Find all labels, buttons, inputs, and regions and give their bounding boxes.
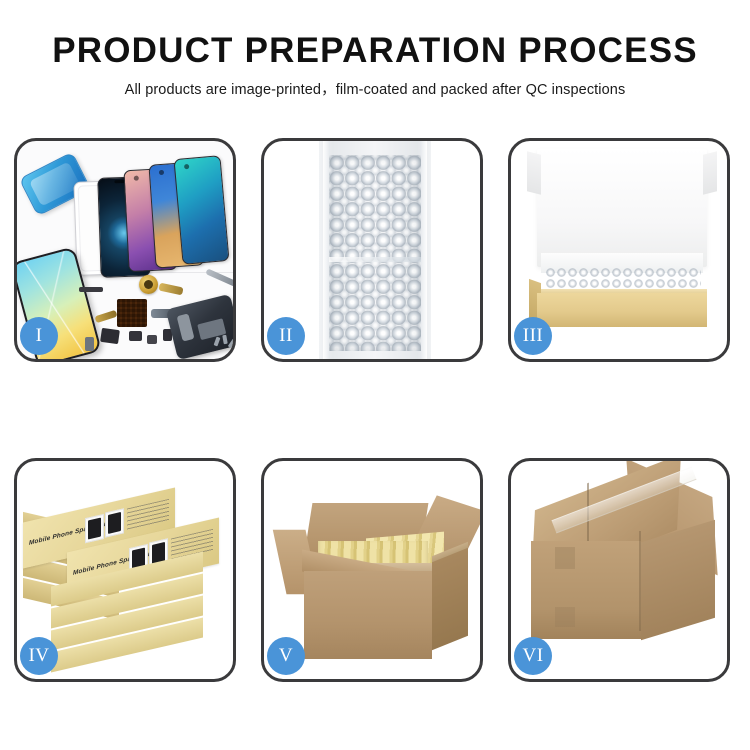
step-panel-i: I bbox=[14, 138, 236, 362]
connector-strip bbox=[79, 287, 103, 292]
phone-lineup bbox=[75, 155, 220, 275]
small-part-3 bbox=[85, 337, 94, 351]
spare-parts-group bbox=[77, 273, 233, 359]
carton-face-right bbox=[641, 520, 715, 641]
box-front-panel bbox=[537, 293, 707, 327]
box-window-top-a bbox=[85, 514, 104, 543]
bag-edge-right bbox=[420, 141, 427, 359]
step-badge-vi: VI bbox=[514, 637, 552, 675]
bubble-pattern-offset bbox=[329, 155, 421, 351]
box-stack: Mobile Phone Spare Parts Mobile Phone Sp… bbox=[23, 477, 233, 673]
step-badge-i: I bbox=[20, 317, 58, 355]
header: PRODUCT PREPARATION PROCESS All products… bbox=[0, 30, 750, 100]
carton-flap-mark-upper bbox=[555, 547, 575, 569]
screws bbox=[215, 335, 233, 349]
small-part-2 bbox=[147, 335, 157, 344]
carton-face-left bbox=[531, 541, 641, 639]
wireless-charging-coil bbox=[139, 275, 158, 294]
phone-teal bbox=[173, 155, 229, 265]
carton-vertical-edge bbox=[639, 531, 641, 631]
process-step-grid: I II bbox=[14, 138, 736, 682]
step-badge-v: V bbox=[267, 637, 305, 675]
sealed-carton bbox=[525, 479, 721, 659]
carton-face-front bbox=[304, 571, 432, 659]
open-carton bbox=[274, 479, 476, 669]
product-preparation-infographic: PRODUCT PREPARATION PROCESS All products… bbox=[0, 0, 750, 750]
step-panel-ii: II bbox=[261, 138, 483, 362]
small-part-1 bbox=[129, 331, 142, 341]
camera-module bbox=[100, 328, 120, 344]
flex-cable-gold-1 bbox=[94, 310, 117, 323]
flex-cable-gold-2 bbox=[158, 283, 183, 296]
phone-back-housing bbox=[166, 294, 233, 359]
page-subtitle: All products are image-printed，film-coat… bbox=[0, 80, 750, 100]
step-panel-iv: Mobile Phone Spare Parts Mobile Phone Sp… bbox=[14, 458, 236, 682]
box-window-top-b bbox=[105, 508, 124, 537]
carton-side-right bbox=[432, 548, 468, 651]
page-title: PRODUCT PREPARATION PROCESS bbox=[0, 30, 750, 72]
bag-seam bbox=[329, 257, 421, 262]
step-panel-iii: III bbox=[508, 138, 730, 362]
step-badge-iii: III bbox=[514, 317, 552, 355]
chip-grid bbox=[117, 299, 147, 327]
step-panel-v: V bbox=[261, 458, 483, 682]
box-lid-open bbox=[537, 149, 707, 267]
step-badge-iv: IV bbox=[20, 637, 58, 675]
bubble-wrap-bag bbox=[319, 141, 431, 359]
box-spec-lines-top bbox=[127, 499, 169, 531]
carton-flap-mark-lower bbox=[555, 607, 575, 627]
step-panel-vi: VI bbox=[508, 458, 730, 682]
step-badge-ii: II bbox=[267, 317, 305, 355]
